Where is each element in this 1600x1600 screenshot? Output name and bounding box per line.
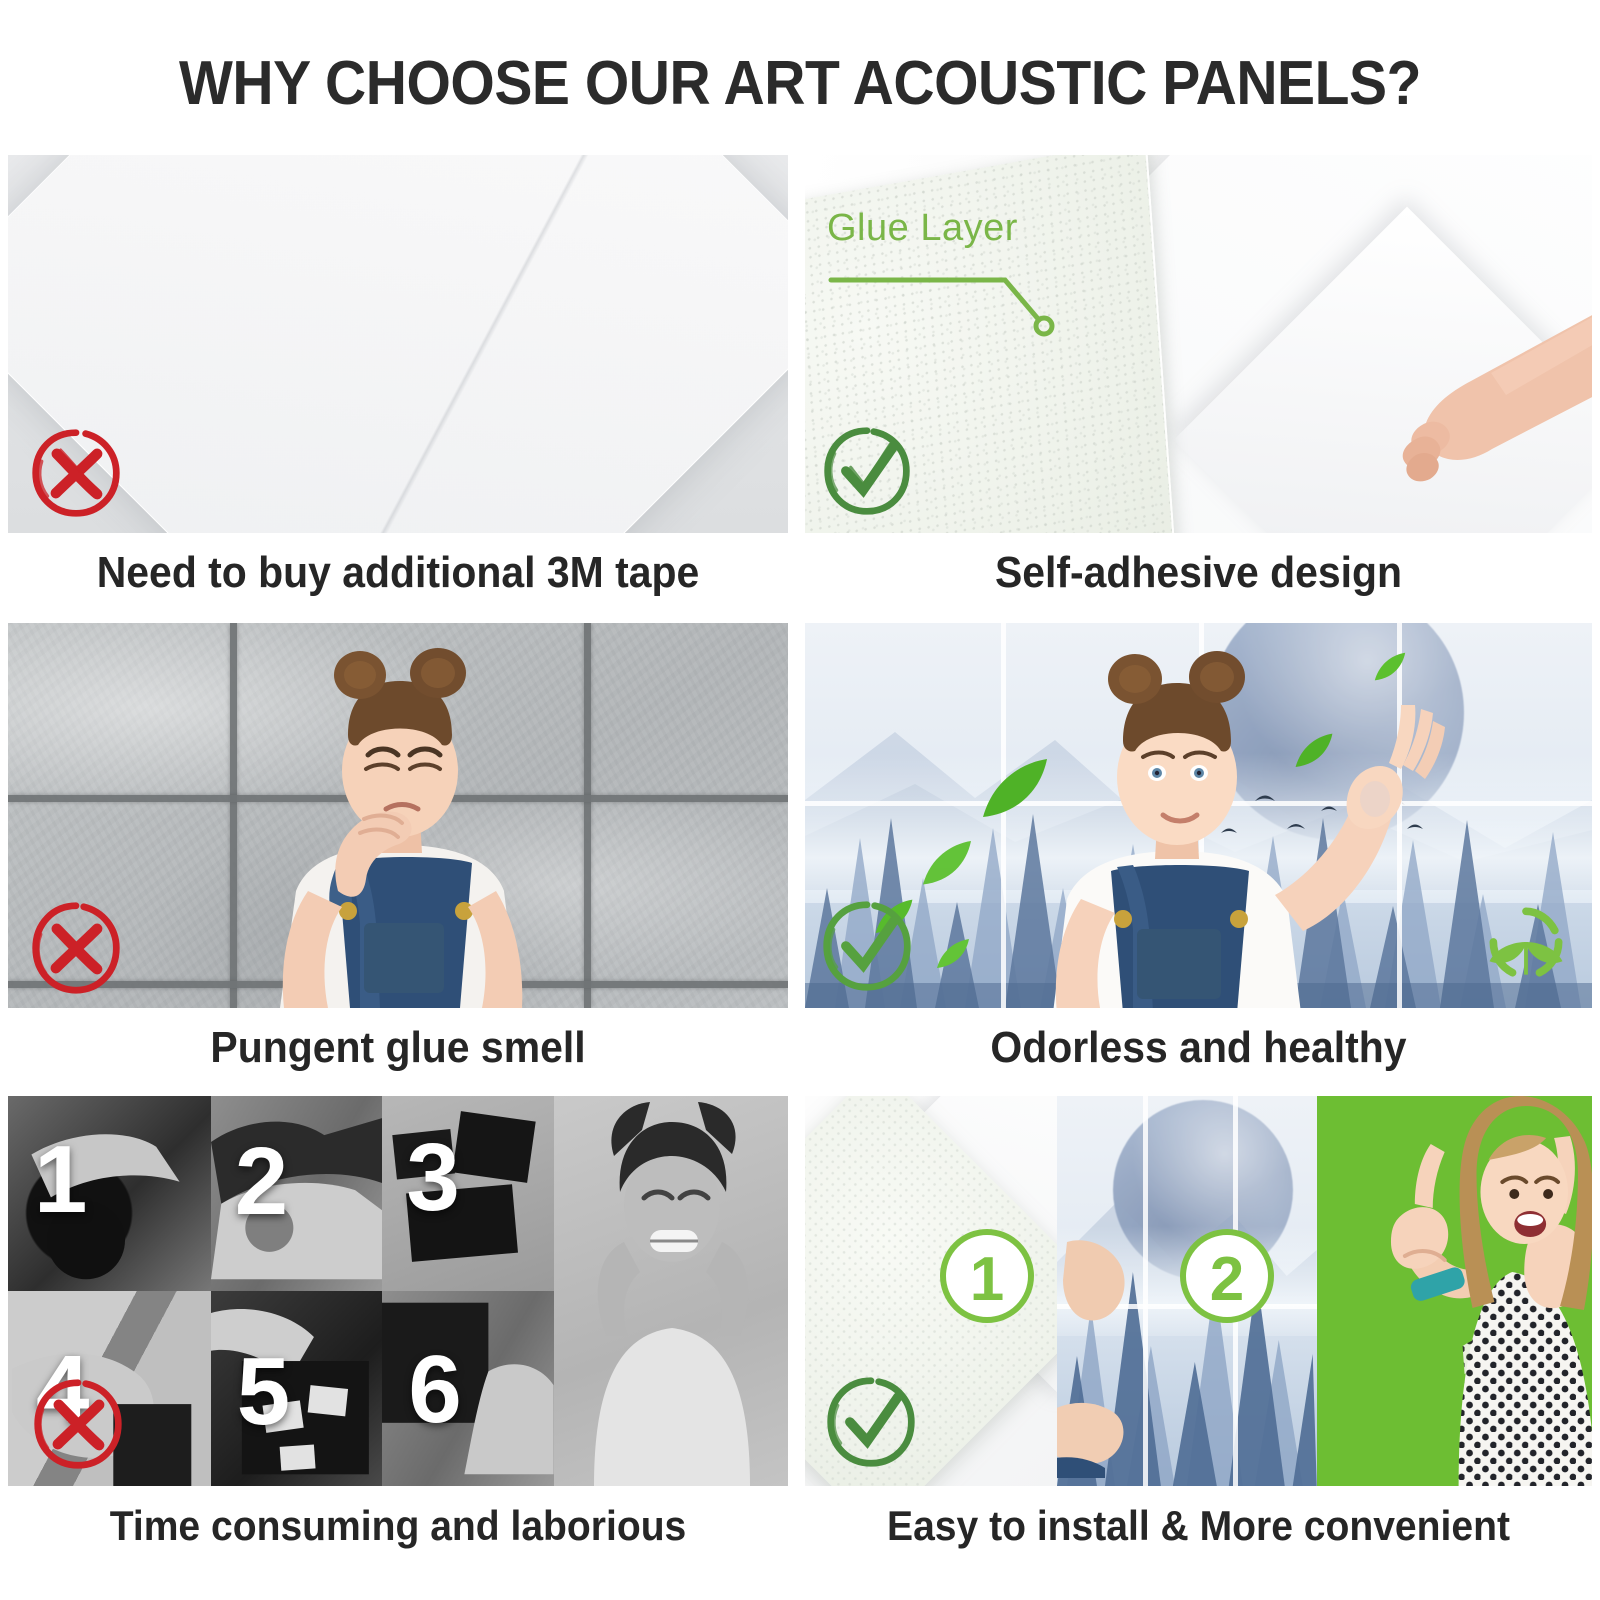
- cell-time-consuming: 1 4: [8, 1096, 788, 1566]
- step-number: 2: [235, 1134, 288, 1230]
- cell-easy-install: 1: [805, 1096, 1592, 1566]
- install-pane-apply: 2: [1057, 1096, 1317, 1486]
- eco-leaf-icon: [1478, 894, 1574, 990]
- red-x-circle-icon: [30, 1376, 126, 1472]
- installing-hand-upper-icon: [1063, 1232, 1149, 1352]
- install-pane-happy-woman: [1317, 1096, 1592, 1486]
- comparison-row-2: Pungent glue smell: [0, 623, 1600, 1088]
- comparison-grid: Need to buy additional 3M tape: [0, 155, 1600, 1575]
- step-number: 6: [408, 1342, 461, 1438]
- step-number: 1: [34, 1132, 87, 1228]
- girl-pinching-nose-figure: [8, 623, 788, 1008]
- thumbs-up-woman-figure: [1385, 1096, 1592, 1486]
- step-badge-2: 2: [1175, 1224, 1279, 1328]
- media-self-adhesive: Glue Layer: [805, 155, 1592, 533]
- comparison-row-1: Need to buy additional 3M tape: [0, 155, 1600, 615]
- green-check-circle-icon: [823, 1374, 919, 1470]
- media-forest-mural: [805, 623, 1592, 1008]
- glue-layer-callout: Glue Layer: [827, 207, 1067, 354]
- red-x-circle-icon: [28, 425, 124, 521]
- green-check-circle-icon: [819, 898, 915, 994]
- leader-line-with-dot-icon: [827, 254, 1067, 354]
- comparison-row-3: 1 4: [0, 1096, 1600, 1566]
- step-badge-1: 1: [935, 1224, 1039, 1328]
- media-easy-install: 1: [805, 1096, 1592, 1486]
- caption-pungent-smell: Pungent glue smell: [35, 1008, 760, 1088]
- step-number-text: 2: [1210, 1245, 1244, 1314]
- cell-need-3m-tape: Need to buy additional 3M tape: [8, 155, 788, 615]
- cell-odorless-healthy: Odorless and healthy: [805, 623, 1592, 1088]
- caption-easy-install: Easy to install & More convenient: [833, 1486, 1565, 1566]
- caption-odorless-healthy: Odorless and healthy: [833, 1008, 1565, 1088]
- step-number: 5: [237, 1344, 290, 1440]
- media-step-collage: 1 4: [8, 1096, 788, 1486]
- step-number-text: 1: [970, 1245, 1004, 1314]
- infographic-page: WHY CHOOSE OUR ART ACOUSTIC PANELS?: [0, 0, 1600, 1600]
- caption-self-adhesive: Self-adhesive design: [833, 533, 1565, 613]
- two-step-install-photo: 1: [805, 1096, 1592, 1486]
- cell-pungent-smell: Pungent glue smell: [8, 623, 788, 1088]
- plain-white-panel-photo: [8, 155, 788, 533]
- caption-time-consuming: Time consuming and laborious: [35, 1486, 760, 1566]
- hand-peeling-panel: [1266, 303, 1592, 518]
- installing-hands-icon: [1057, 1358, 1189, 1478]
- green-check-circle-icon: [819, 423, 915, 519]
- page-title: WHY CHOOSE OUR ART ACOUSTIC PANELS?: [64, 48, 1536, 119]
- step-number: 3: [406, 1130, 459, 1226]
- glue-layer-label: Glue Layer: [827, 207, 1067, 250]
- media-gray-tile-wall: [8, 623, 788, 1008]
- girl-ok-gesture-figure: [805, 623, 1592, 1008]
- cell-self-adhesive: Glue Layer: [805, 155, 1592, 615]
- red-x-circle-icon: [28, 900, 124, 996]
- media-plain-panel: [8, 155, 788, 533]
- caption-need-3m-tape: Need to buy additional 3M tape: [35, 533, 760, 613]
